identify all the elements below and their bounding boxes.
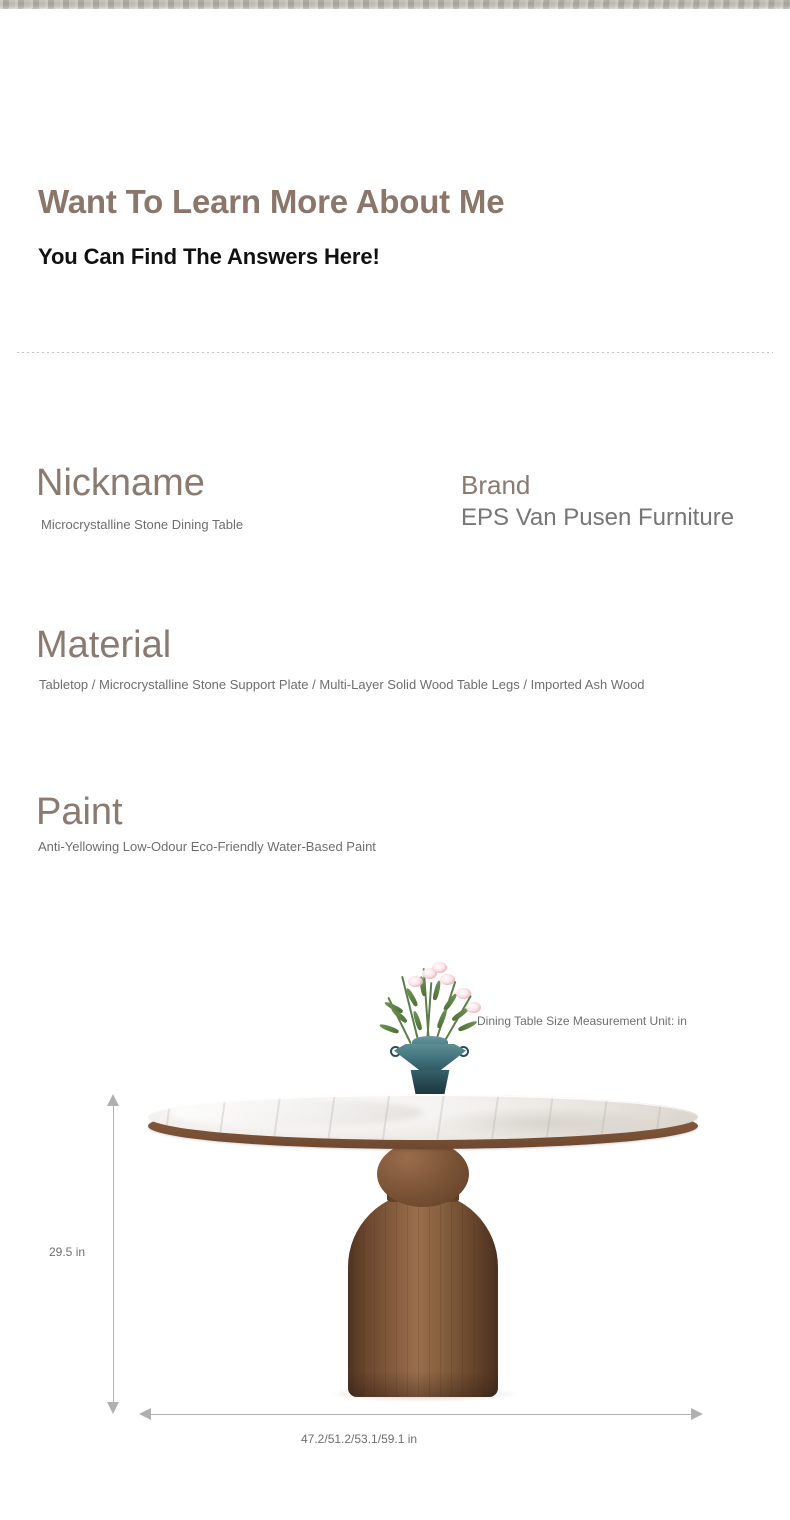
measurement-unit-note: Dining Table Size Measurement Unit: in <box>477 1014 687 1028</box>
width-dimension-label: 47.2/51.2/53.1/59.1 in <box>301 1432 417 1446</box>
height-dimension-line <box>113 1100 114 1412</box>
vase-base <box>408 1070 452 1096</box>
arrow-up-icon <box>107 1094 119 1106</box>
tabletop-stone-surface <box>148 1094 698 1140</box>
height-dimension-label: 29.5 in <box>49 1245 85 1259</box>
spec-material-title: Material <box>36 626 656 666</box>
spec-material-value: Tabletop / Microcrystalline Stone Suppor… <box>39 676 656 693</box>
arrow-left-icon <box>139 1408 151 1420</box>
table-pedestal-base <box>348 1192 498 1397</box>
vase-body <box>394 1044 466 1074</box>
width-dimension-line <box>145 1414 697 1415</box>
arrow-right-icon <box>691 1408 703 1420</box>
spec-paint-title: Paint <box>36 793 456 833</box>
spec-paint-value: Anti-Yellowing Low-Odour Eco-Friendly Wa… <box>38 838 456 855</box>
spec-material: Material Tabletop / Microcrystalline Sto… <box>36 626 656 693</box>
decor-vase-with-flowers <box>370 958 490 1106</box>
product-spec-page: Want To Learn More About Me You Can Find… <box>0 0 790 1520</box>
table-pedestal-sphere <box>377 1141 469 1207</box>
spec-paint: Paint Anti-Yellowing Low-Odour Eco-Frien… <box>36 793 456 855</box>
product-illustration <box>0 0 790 520</box>
arrow-down-icon <box>107 1402 119 1414</box>
